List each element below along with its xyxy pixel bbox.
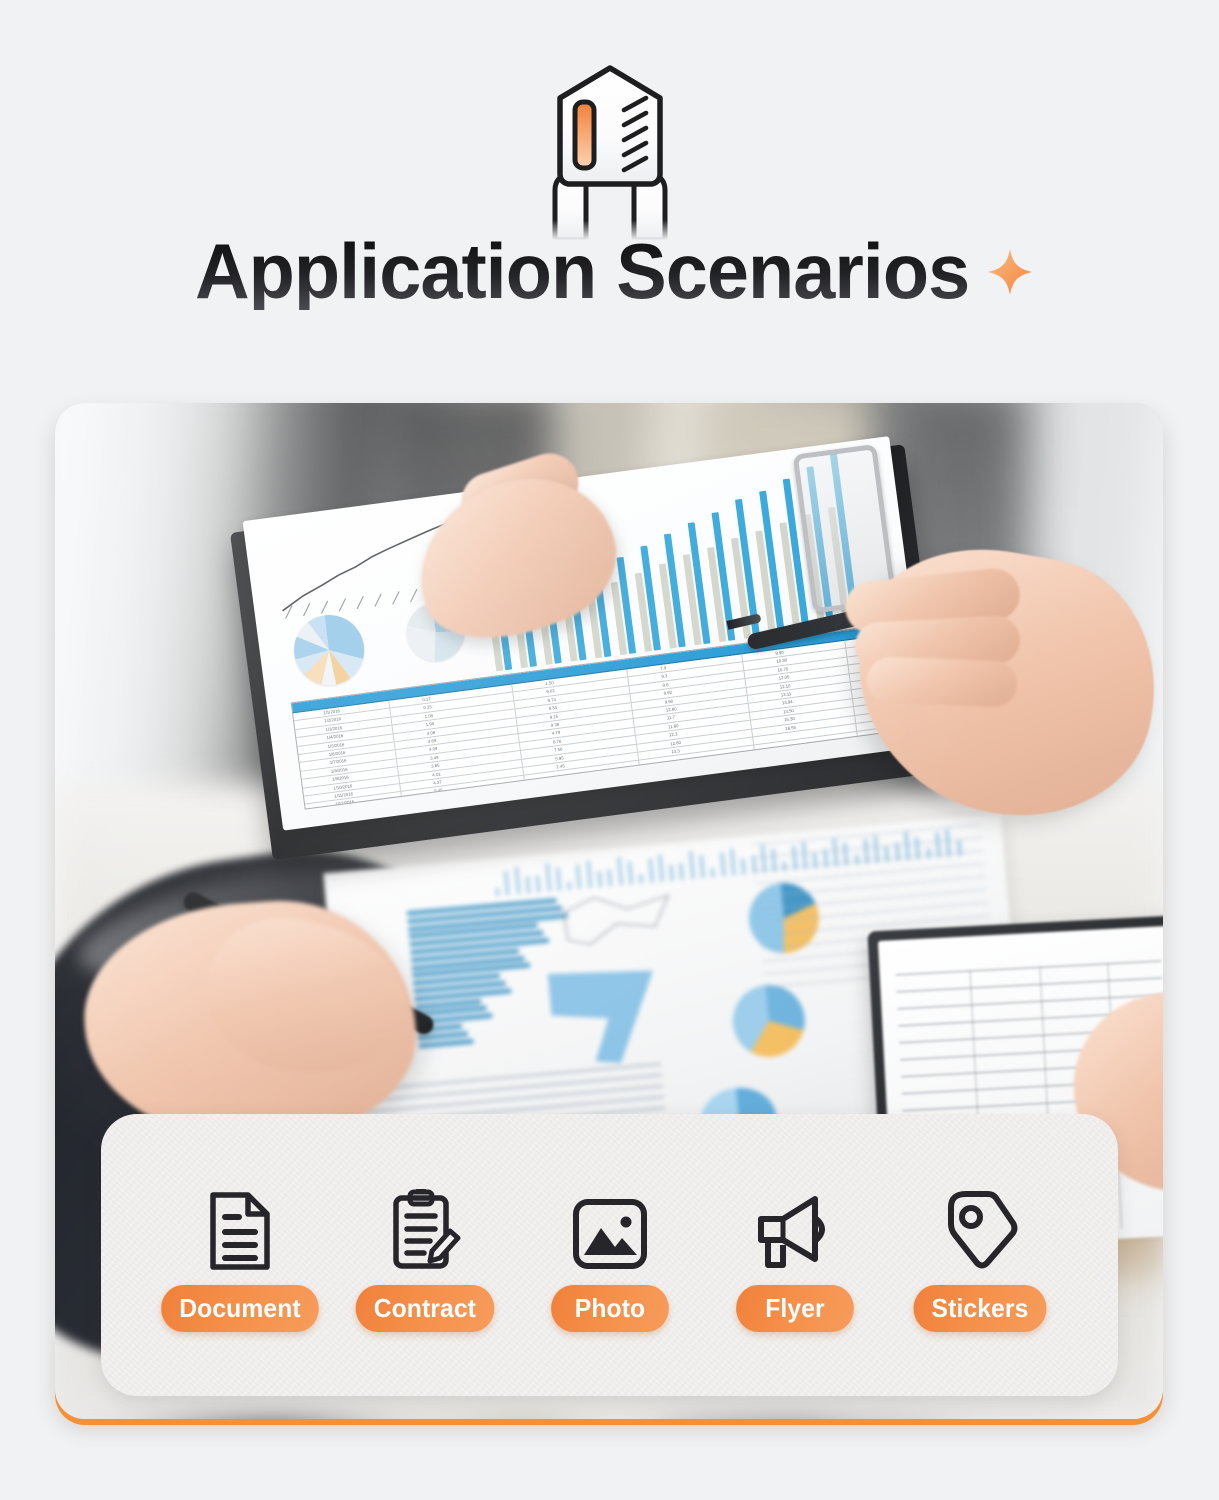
- finger-right-3: [866, 656, 1018, 707]
- table-column-line: [396, 759, 398, 766]
- flyer-megaphone-icon: [753, 1185, 837, 1271]
- table-column-line: [845, 649, 847, 656]
- table-cell: 10.70: [777, 665, 789, 674]
- table-cell: 12.05: [778, 673, 790, 682]
- page-header: Application Scenarios: [0, 0, 1219, 400]
- table-cell: 4.08: [426, 729, 435, 737]
- table-cell: 9.92: [663, 689, 672, 697]
- table-column-line: [512, 693, 514, 700]
- table-column-line: [626, 669, 628, 676]
- logo: [0, 62, 1219, 242]
- table-column-line: [388, 701, 390, 708]
- scenario-card: Document Contract: [101, 1114, 1118, 1396]
- table-cell: 0.25: [423, 704, 432, 712]
- table-column-line: [856, 732, 858, 739]
- table-column-line: [632, 711, 634, 718]
- contract-icon: [388, 1185, 462, 1271]
- table-column-line: [511, 684, 513, 691]
- table-column-line: [389, 709, 391, 716]
- table-cell: 15.30: [784, 715, 796, 724]
- table-column-line: [855, 724, 857, 731]
- scenario-label-document[interactable]: Document: [161, 1285, 319, 1332]
- mini-bar: [525, 877, 530, 894]
- table-column-line: [627, 678, 629, 685]
- mini-bar: [576, 865, 582, 889]
- mini-bar: [648, 858, 654, 882]
- table-column-line: [747, 696, 749, 703]
- table-column-line: [398, 776, 400, 783]
- mini-bar: [730, 848, 736, 875]
- table-cell: 11.7: [666, 714, 675, 722]
- table-column-line: [394, 742, 396, 749]
- table-cell: 9.90: [664, 697, 673, 705]
- table-cell: 9.25: [549, 712, 558, 720]
- mini-bar: [658, 854, 664, 882]
- scenario-label-flyer[interactable]: Flyer: [736, 1285, 854, 1332]
- table-column-line: [852, 699, 854, 706]
- table-cell: 2.45: [556, 762, 565, 770]
- table-column-line: [635, 736, 637, 743]
- table-column-line: [631, 703, 633, 710]
- table-column-line: [638, 761, 640, 768]
- mini-bar: [567, 881, 572, 890]
- mini-bar: [495, 888, 500, 896]
- table-cell: 8.34: [548, 704, 557, 712]
- table-column-line: [516, 718, 518, 725]
- table-column-line: [522, 768, 524, 775]
- blurred-pie-2: [730, 982, 808, 1060]
- scenario-item-photo[interactable]: Photo: [517, 1185, 702, 1332]
- table-cell: 8.76: [553, 737, 562, 745]
- table-column-line: [750, 721, 752, 728]
- table-cell: 9.38: [550, 721, 559, 729]
- table-column-line: [741, 654, 743, 661]
- scenario-item-stickers[interactable]: Stickers: [887, 1185, 1072, 1332]
- horizontal-bar: [418, 1038, 473, 1048]
- mini-bar: [514, 867, 520, 895]
- table-cell: 4.69: [427, 737, 436, 745]
- table-cell: 4.01: [432, 770, 441, 778]
- table-cell: 3.49: [430, 753, 439, 761]
- mini-bar: [679, 862, 685, 880]
- table-column-line: [850, 682, 852, 689]
- table-column-line: [847, 657, 849, 664]
- table-cell: 4.37: [433, 778, 442, 786]
- table-cell: 9.3: [661, 673, 668, 681]
- scenario-label-photo[interactable]: Photo: [551, 1285, 669, 1332]
- table-cell: 1/12/2016: [335, 798, 355, 808]
- table-cell: 12.60: [670, 738, 682, 747]
- table-cell: 12.3: [669, 730, 678, 738]
- table-cell: 5.95: [555, 754, 564, 762]
- table-cell: 11.80: [668, 722, 679, 731]
- page-title: Application Scenarios: [195, 232, 969, 310]
- pie-chart-1: [290, 611, 369, 690]
- table-column-line: [395, 751, 397, 758]
- mini-bar: [688, 851, 694, 879]
- table-column-line: [752, 737, 754, 744]
- mini-bar: [699, 855, 705, 878]
- mini-bar: [669, 865, 674, 881]
- mini-bar: [535, 876, 540, 893]
- mini-bar: [639, 875, 644, 884]
- table-column-line: [517, 726, 519, 733]
- table-cell: 13.94: [781, 698, 793, 707]
- table-column-line: [854, 715, 856, 722]
- scenario-item-flyer[interactable]: Flyer: [702, 1185, 887, 1332]
- table-cell: 3.85: [431, 762, 440, 770]
- table-cell: 16.55: [785, 723, 797, 732]
- photo-icon: [571, 1185, 649, 1271]
- table-column-line: [753, 746, 755, 753]
- table-column-line: [633, 719, 635, 726]
- mini-bar: [607, 869, 612, 886]
- table-column-line: [514, 709, 516, 716]
- mini-bar: [741, 859, 746, 875]
- table-cell: 8.90: [775, 649, 784, 657]
- stickers-tag-icon: [941, 1185, 1019, 1271]
- table-column-line: [743, 671, 745, 678]
- table-cell: 7.56: [554, 746, 563, 754]
- table-cell: 9.74: [547, 696, 556, 704]
- mini-bar: [504, 871, 510, 895]
- table-column-line: [636, 744, 638, 751]
- building-skyscraper-icon: [500, 62, 720, 242]
- mini-bar: [545, 864, 551, 892]
- mini-bar: [597, 871, 602, 888]
- table-column-line: [392, 726, 394, 733]
- table-cell: 1.98: [425, 720, 434, 728]
- table-column-line: [520, 751, 522, 758]
- mini-bar: [586, 861, 592, 889]
- table-column-line: [400, 792, 402, 799]
- table-cell: 5.45: [434, 787, 443, 795]
- table-column-line: [742, 663, 744, 670]
- table-column-line: [513, 701, 515, 708]
- table-cell: 12.80: [665, 705, 677, 714]
- table-column-line: [748, 704, 750, 711]
- table-column-line: [521, 759, 523, 766]
- table-cell: 7.9: [660, 664, 667, 672]
- table-cell: 9.6: [662, 681, 669, 689]
- table-column-line: [523, 776, 525, 783]
- table-cell: 13.50: [783, 707, 795, 716]
- table-column-line: [746, 687, 748, 694]
- table-column-line: [397, 767, 399, 774]
- table-column-line: [853, 707, 855, 714]
- table-column-line: [848, 666, 850, 673]
- page-title-row: Application Scenarios: [0, 232, 1219, 310]
- table-cell: 1.50: [545, 679, 554, 687]
- mini-bar: [711, 868, 716, 877]
- table-cell: 12.10: [779, 682, 791, 691]
- table-cell: 1.08: [424, 712, 433, 720]
- table-cell: 13.3: [671, 747, 680, 755]
- mini-bar: [720, 852, 726, 877]
- mini-bar: [617, 858, 623, 886]
- table-column-line: [393, 734, 395, 741]
- scenario-label-stickers[interactable]: Stickers: [913, 1285, 1046, 1332]
- table-column-line: [749, 712, 751, 719]
- table-column-line: [634, 728, 636, 735]
- scatter-line-chart: [556, 884, 692, 965]
- table-column-line: [751, 729, 753, 736]
- document-icon: [206, 1185, 274, 1271]
- table-cell: 4.79: [551, 729, 560, 737]
- table-column-line: [849, 674, 851, 681]
- table-cell: 0.17: [422, 695, 431, 703]
- scenario-list: Document Contract: [101, 1114, 1118, 1396]
- table-column-line: [390, 717, 392, 724]
- table-column-line: [518, 734, 520, 741]
- scenario-label-contract[interactable]: Contract: [355, 1285, 493, 1332]
- table-column-line: [629, 694, 631, 701]
- table-column-line: [744, 679, 746, 686]
- sparkle-icon: [984, 246, 1036, 298]
- table-cell: 13.11: [780, 690, 791, 699]
- table-cell: 4.09: [429, 745, 438, 753]
- scenario-item-contract[interactable]: Contract: [332, 1185, 517, 1332]
- table-column-line: [637, 753, 639, 760]
- table-column-line: [399, 784, 401, 791]
- table-column-line: [851, 691, 853, 698]
- table-cell: 6.02: [546, 687, 555, 695]
- mini-bar: [627, 861, 633, 884]
- table-column-line: [628, 686, 630, 693]
- mini-bar: [555, 867, 561, 891]
- table-column-line: [844, 641, 846, 648]
- table-column-line: [519, 743, 521, 750]
- table-cell: 10.30: [776, 657, 788, 666]
- scenario-item-document[interactable]: Document: [147, 1185, 332, 1332]
